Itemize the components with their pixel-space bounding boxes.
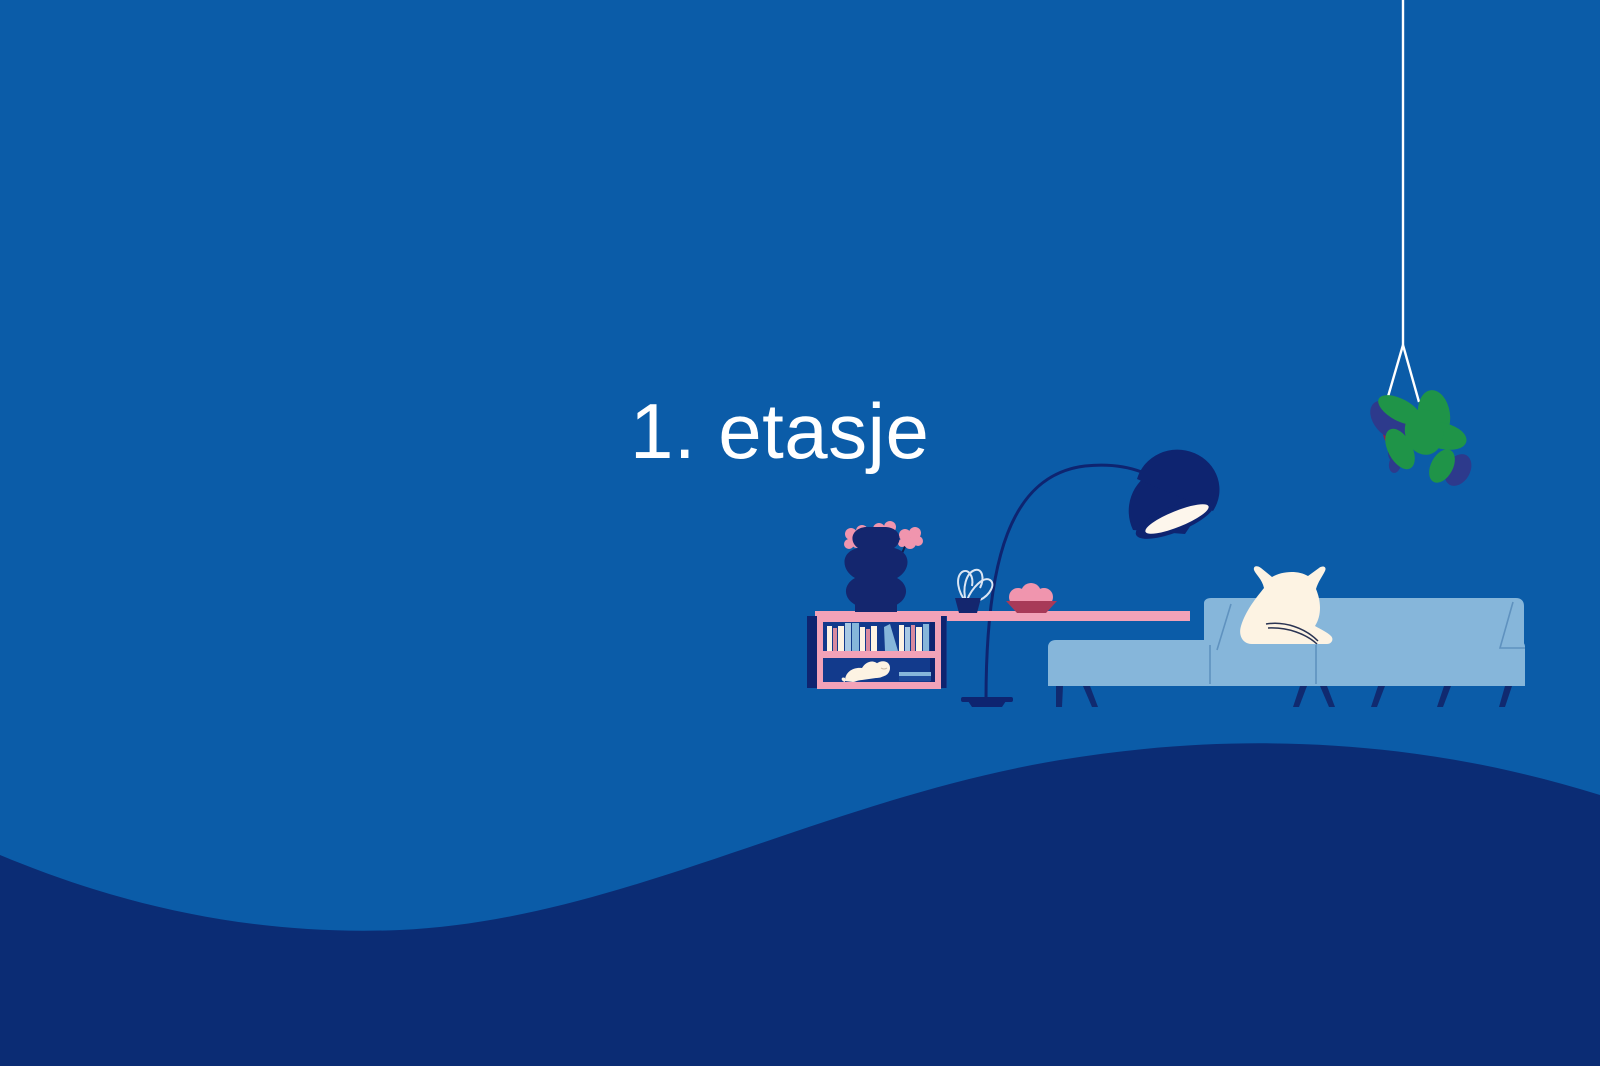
- stacked-book-1: [899, 672, 931, 676]
- bookshelf-side-left-icon: [807, 616, 817, 688]
- book: [852, 623, 859, 651]
- vase-icon: [844, 527, 907, 606]
- slide-root: 1. etasje: [0, 0, 1600, 1066]
- book: [905, 627, 910, 651]
- book: [923, 624, 929, 651]
- vase-base-icon: [855, 600, 897, 612]
- book: [911, 625, 915, 651]
- sofa-leg: [1056, 686, 1063, 707]
- plant-pot-icon: [955, 598, 981, 613]
- book: [845, 623, 851, 651]
- book: [833, 628, 837, 651]
- book: [899, 625, 904, 651]
- book: [871, 626, 877, 651]
- book: [838, 626, 844, 651]
- bookshelf-frame-mid-icon: [817, 651, 941, 658]
- bookshelf-frame-top-icon: [817, 615, 941, 622]
- page-title: 1. etasje: [630, 392, 929, 470]
- stacked-book-2: [899, 676, 931, 681]
- flower-bloom-3-icon: [898, 527, 923, 549]
- bookshelf-frame-right-icon: [935, 615, 941, 689]
- book: [916, 627, 922, 651]
- bookshelf-frame-bottom-icon: [817, 682, 941, 689]
- scene-illustration: [0, 0, 1600, 1066]
- book: [860, 627, 865, 651]
- bookshelf-frame-left-icon: [817, 615, 823, 689]
- bookshelf: [807, 615, 947, 689]
- book: [827, 626, 832, 651]
- book: [866, 629, 870, 651]
- sofa-seat-icon: [1048, 640, 1525, 686]
- sofa-backrest-left-arm-icon: [1204, 598, 1511, 605]
